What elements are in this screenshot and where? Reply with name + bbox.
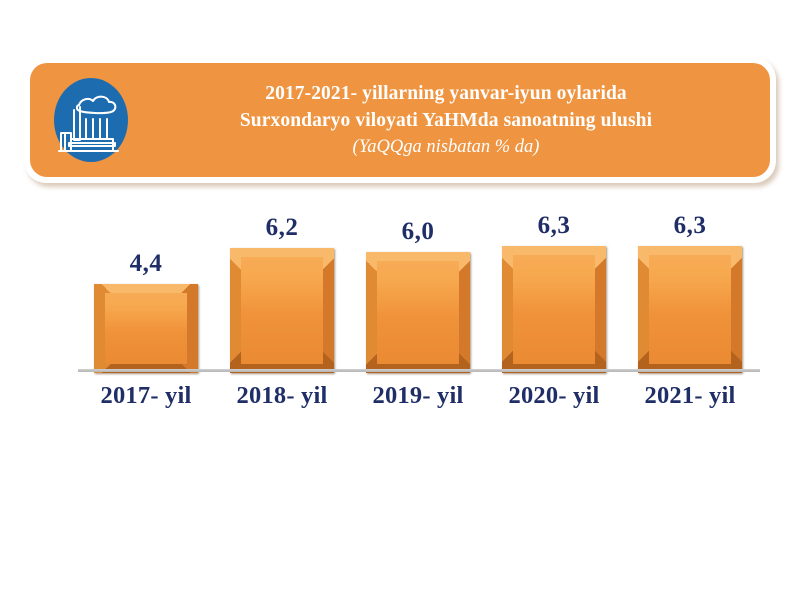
category-label: 2019- yil: [350, 382, 486, 410]
banner-subtitle: (YaQQga nisbatan % da): [142, 134, 750, 160]
bar-face: [241, 257, 323, 364]
bar-group: 6,3: [638, 228, 742, 373]
bar-face: [105, 293, 187, 364]
factory-icon: [52, 77, 130, 163]
banner-title-line2: Surxondaryo viloyati YaHMda sanoatning u…: [142, 107, 750, 134]
bar[interactable]: [94, 284, 198, 373]
bar[interactable]: [502, 246, 606, 373]
chart-plot-area: 4,46,26,06,36,3: [78, 228, 738, 373]
bar-value-label: 6,2: [230, 214, 334, 242]
bar-face: [377, 261, 459, 364]
category-label: 2020- yil: [486, 382, 622, 410]
bar-group: 4,4: [94, 228, 198, 373]
bar-value-label: 4,4: [94, 250, 198, 278]
category-label: 2018- yil: [214, 382, 350, 410]
bar-group: 6,0: [366, 228, 470, 373]
category-label: 2017- yil: [78, 382, 214, 410]
bar-face: [513, 255, 595, 364]
banner-title-line1: 2017-2021- yillarning yanvar-iyun oylari…: [142, 80, 750, 107]
bar[interactable]: [230, 248, 334, 373]
bar[interactable]: [638, 246, 742, 373]
bar-value-label: 6,0: [366, 218, 470, 246]
header-banner: 2017-2021- yillarning yanvar-iyun oylari…: [24, 57, 776, 183]
header-banner-text: 2017-2021- yillarning yanvar-iyun oylari…: [142, 80, 750, 160]
bar-value-label: 6,3: [638, 212, 742, 240]
chart-category-labels: 2017- yil2018- yil2019- yil2020- yil2021…: [78, 382, 760, 416]
bar-group: 6,3: [502, 228, 606, 373]
bar-group: 6,2: [230, 228, 334, 373]
bar-value-label: 6,3: [502, 212, 606, 240]
bar-face: [649, 255, 731, 364]
chart-baseline-axis: [78, 369, 760, 372]
bar[interactable]: [366, 252, 470, 373]
category-label: 2021- yil: [622, 382, 758, 410]
header-banner-inner: 2017-2021- yillarning yanvar-iyun oylari…: [30, 63, 770, 177]
